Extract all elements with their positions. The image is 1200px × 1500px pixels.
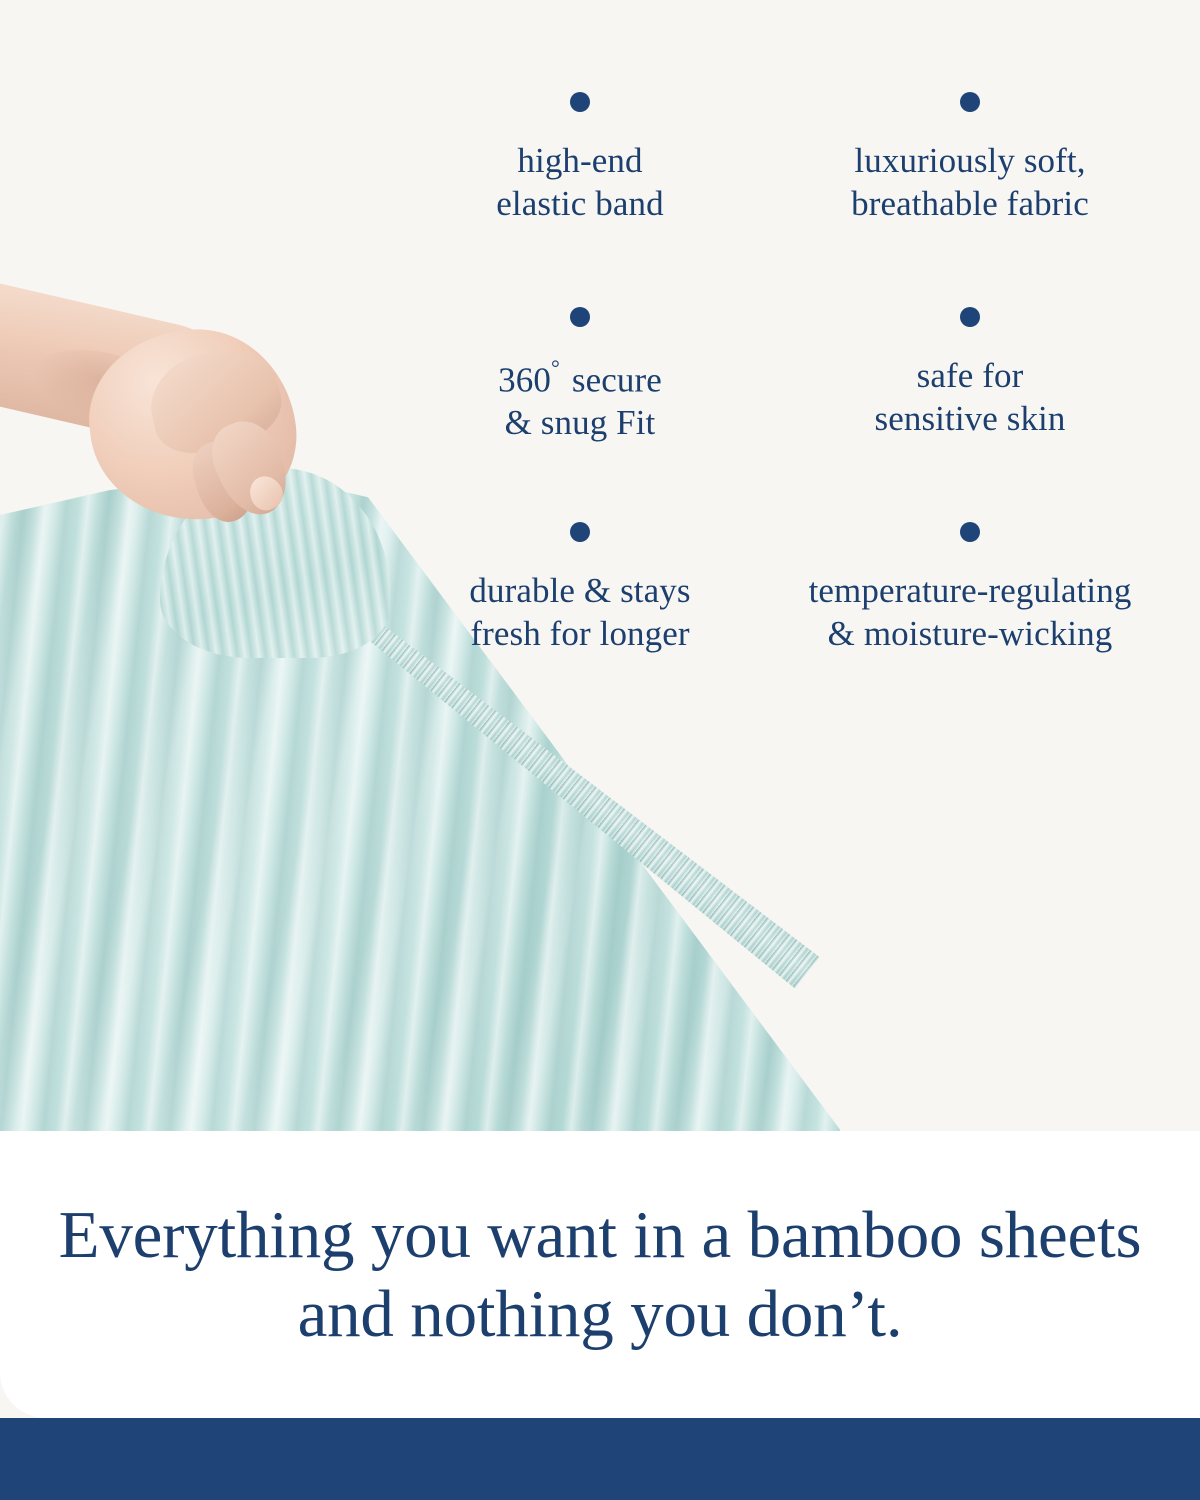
marketing-panel: high-end elastic band luxuriously soft, … <box>0 0 1200 1500</box>
feature-label: 360°secure & snug Fit <box>400 355 760 445</box>
feature-item-snug-fit: 360°secure & snug Fit <box>400 307 760 522</box>
headline-text: Everything you want in a bamboo sheets a… <box>0 1196 1200 1353</box>
feature-item-durable: durable & stays fresh for longer <box>400 522 760 737</box>
bullet-dot-icon <box>570 522 590 542</box>
feature-label: durable & stays fresh for longer <box>400 570 760 655</box>
feature-label: safe for sensitive skin <box>770 355 1170 440</box>
footer-bar <box>0 1418 1200 1500</box>
feature-item-sensitive-skin: safe for sensitive skin <box>770 307 1170 522</box>
bullet-dot-icon <box>960 92 980 112</box>
bullet-dot-icon <box>570 92 590 112</box>
feature-item-temperature-regulating: temperature-regulating & moisture-wickin… <box>770 522 1170 737</box>
feature-item-elastic-band: high-end elastic band <box>400 92 760 307</box>
feature-item-breathable-fabric: luxuriously soft, breathable fabric <box>770 92 1170 307</box>
bullet-dot-icon <box>960 522 980 542</box>
bullet-dot-icon <box>960 307 980 327</box>
feature-list: high-end elastic band luxuriously soft, … <box>400 92 1170 737</box>
feature-label: temperature-regulating & moisture-wickin… <box>770 570 1170 655</box>
headline-card: Everything you want in a bamboo sheets a… <box>0 1131 1200 1418</box>
feature-label-degrees: 360 <box>498 361 551 400</box>
degree-symbol-icon: ° <box>551 355 572 380</box>
bullet-dot-icon <box>570 307 590 327</box>
feature-label: high-end elastic band <box>400 140 760 225</box>
feature-label: luxuriously soft, breathable fabric <box>770 140 1170 225</box>
